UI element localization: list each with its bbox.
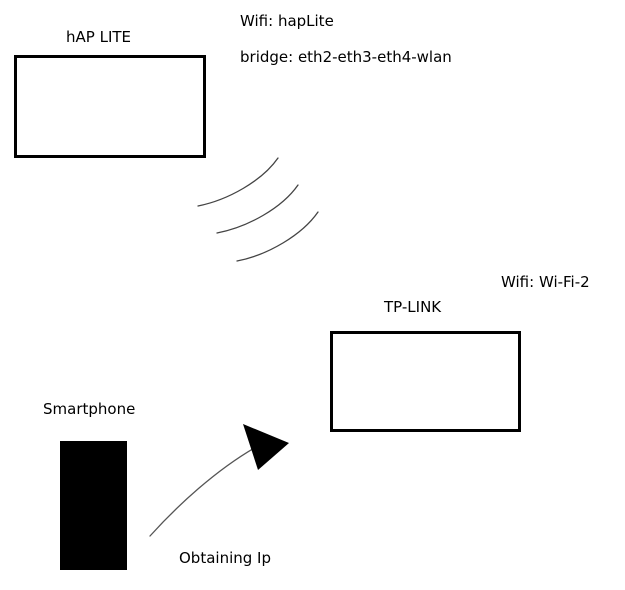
tp-link-device-box	[330, 331, 521, 432]
smartphone-body	[60, 441, 127, 570]
wifi-arc-3	[237, 212, 318, 261]
dhcp-request-arrow-icon	[150, 424, 289, 536]
wifi-arc-1	[198, 158, 278, 206]
tp-link-label: TP-LINK	[384, 300, 441, 315]
smartphone-label: Smartphone	[43, 402, 135, 417]
obtaining-ip-label: Obtaining Ip	[179, 551, 271, 566]
hap-lite-bridge-annotation: bridge: eth2-eth3-eth4-wlan	[240, 50, 452, 65]
wifi-arc-2	[217, 185, 298, 233]
dhcp-arrow-head	[243, 424, 289, 470]
diagram-canvas: hAP LITE Wifi: hapLite bridge: eth2-eth3…	[0, 0, 625, 590]
dhcp-arrow-curve	[150, 447, 256, 536]
hap-lite-device-box	[14, 55, 206, 158]
hap-lite-wifi-annotation: Wifi: hapLite	[240, 14, 334, 29]
hap-lite-label: hAP LITE	[66, 30, 131, 45]
tp-link-wifi-annotation: Wifi: Wi-Fi-2	[501, 275, 590, 290]
wifi-signal-arcs-icon	[198, 158, 318, 261]
